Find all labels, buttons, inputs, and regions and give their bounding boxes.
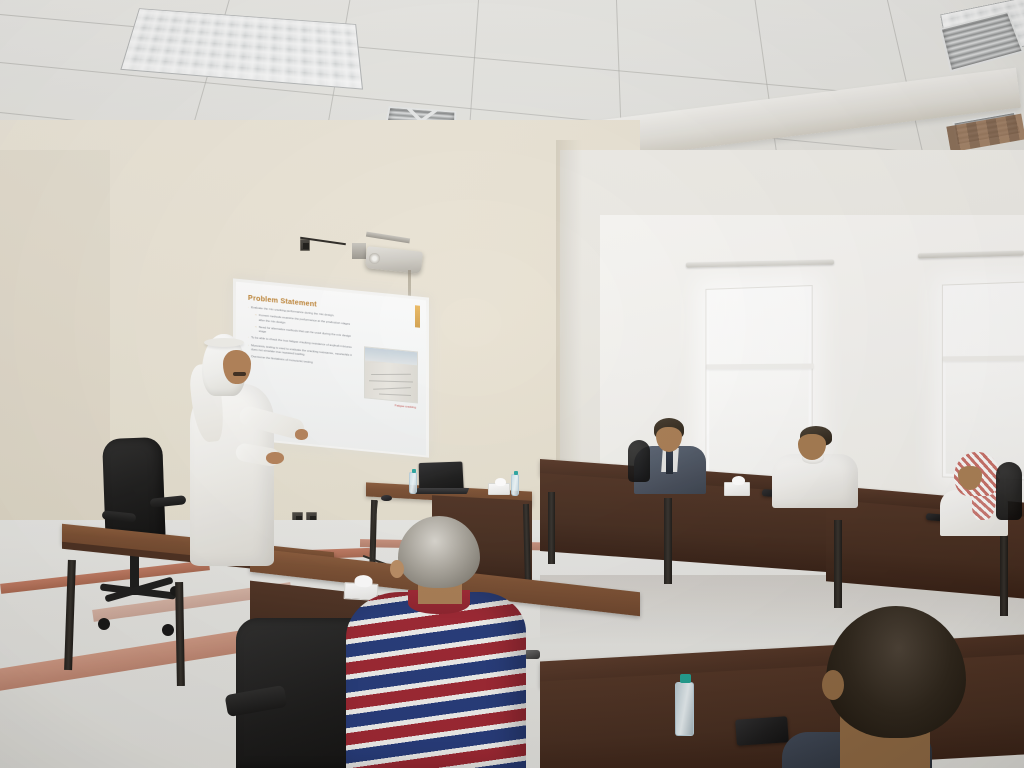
slide-photo-fatigue-cracking: [364, 346, 418, 403]
attendee-ear: [390, 560, 404, 578]
projector-mount-arm: [352, 243, 366, 259]
table-leg: [664, 498, 672, 584]
attendee-white-shirt: [772, 426, 862, 504]
striped-polo-shirt: [346, 592, 526, 768]
slide-photo-caption: Fatigue cracking: [395, 403, 416, 409]
chair-caster: [98, 618, 110, 630]
water-bottle[interactable]: [511, 474, 519, 496]
presenter-pointing-hand: [295, 429, 308, 440]
bottle-cap: [412, 469, 416, 473]
necktie: [666, 450, 673, 474]
classroom-presentation-scene: Problem Statement · Evaluate the mix cra…: [0, 0, 1024, 768]
wall-socket[interactable]: [300, 239, 310, 251]
window-right: [942, 281, 1024, 480]
presenter-hand: [266, 452, 284, 464]
chair-caster: [162, 624, 174, 636]
water-bottle[interactable]: [409, 472, 417, 494]
attendee-gray-hair: [398, 516, 480, 588]
presenter-laptop-base[interactable]: [415, 488, 469, 494]
attendee-striped-shirt: [346, 516, 532, 768]
table-leg: [834, 520, 842, 608]
ceiling-duct-panel: [946, 114, 1024, 153]
tissue-puff: [732, 476, 745, 485]
attendee-ear: [822, 670, 844, 700]
presenter: [178, 334, 328, 566]
bullet-marker: –: [255, 324, 257, 332]
tissue-box[interactable]: [724, 482, 750, 496]
bottle-cap: [680, 674, 691, 683]
bottle-cap: [514, 471, 518, 475]
presenter-laptop-screen[interactable]: [419, 462, 464, 491]
presenter-face: [223, 350, 251, 384]
table-leg: [548, 492, 555, 564]
smartphone-on-table[interactable]: [735, 716, 789, 746]
bullet-marker: –: [255, 313, 257, 321]
mouse[interactable]: [381, 495, 392, 501]
bullet-marker: ·: [248, 305, 249, 309]
tissue-box[interactable]: [488, 483, 510, 495]
attendee-chair[interactable]: [996, 462, 1022, 520]
presenter-mustache: [233, 372, 246, 376]
attendee-foreground-right: [796, 606, 986, 768]
attendee-dark-hair: [826, 606, 966, 738]
table-leg: [1000, 536, 1008, 616]
attendee-chair[interactable]: [628, 440, 650, 482]
presenter-agal: [204, 338, 244, 347]
tissue-puff: [495, 478, 506, 486]
projector-lens: [369, 252, 381, 264]
water-bottle[interactable]: [675, 682, 694, 736]
